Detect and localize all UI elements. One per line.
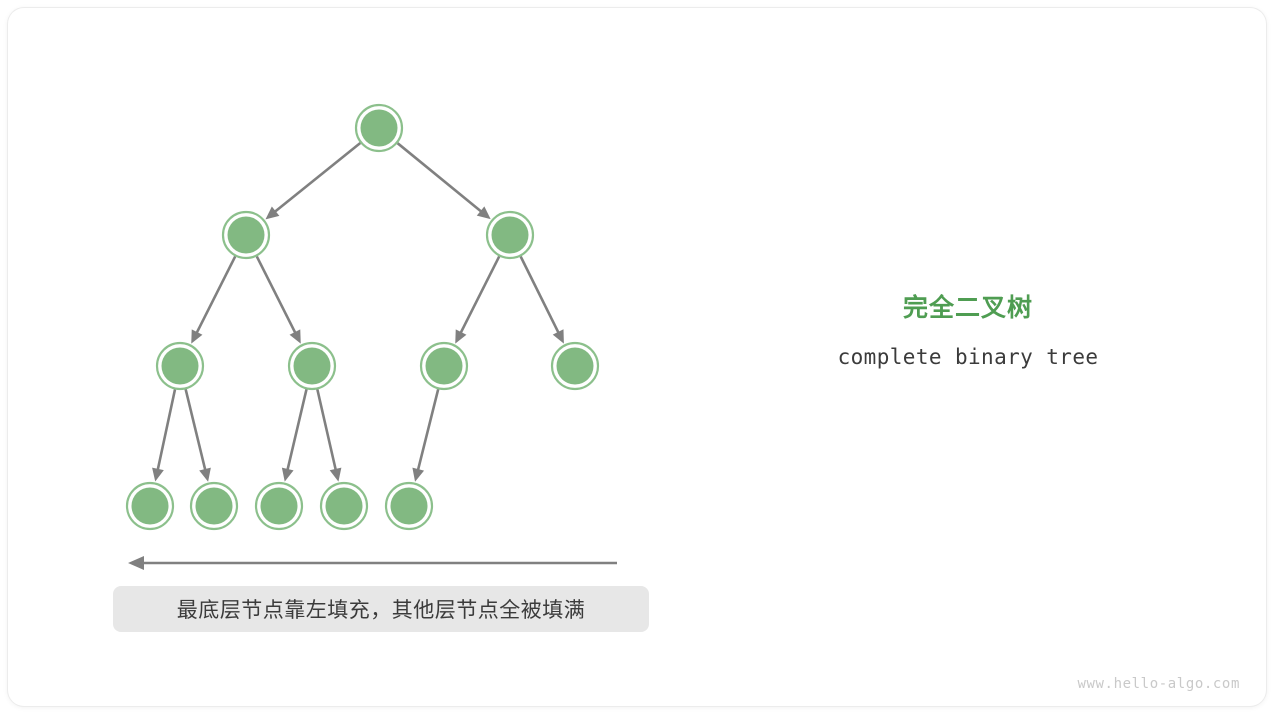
tree-node	[157, 343, 203, 389]
tree-edge-arrowhead	[282, 468, 294, 482]
tree-node-circle	[228, 217, 265, 254]
tree-edge-line	[274, 143, 360, 212]
tree-edge	[186, 389, 211, 481]
tree-node-circle	[162, 348, 199, 385]
tree-edge-arrowhead	[199, 468, 211, 482]
tree-edge-line	[287, 389, 306, 471]
tree-node	[386, 483, 432, 529]
tree-edge	[191, 256, 235, 343]
tree-node	[191, 483, 237, 529]
tree-node-circle	[294, 348, 331, 385]
tree-edge-line	[196, 256, 235, 333]
tree-edges-layer	[152, 143, 564, 482]
tree-edge-line	[398, 143, 482, 212]
tree-edge-line	[158, 389, 175, 470]
tree-node	[223, 212, 269, 258]
watermark-url: www.hello-algo.com	[1077, 676, 1240, 692]
tree-node	[356, 105, 402, 151]
tree-node-circle	[261, 488, 298, 525]
legend-subtitle: complete binary tree	[768, 345, 1168, 369]
tree-edge-line	[317, 389, 336, 470]
tree-edge	[412, 389, 438, 481]
tree-node	[487, 212, 533, 258]
tree-edge-arrowhead	[152, 468, 164, 482]
caption-label: 最底层节点靠左填充，其他层节点全被填满	[177, 594, 586, 624]
tree-edge	[455, 256, 499, 343]
fill-direction-arrow	[128, 556, 617, 570]
tree-node-circle	[557, 348, 594, 385]
tree-edge	[398, 143, 491, 219]
tree-nodes-layer	[127, 105, 598, 529]
tree-node-circle	[426, 348, 463, 385]
legend-block: 完全二叉树 complete binary tree	[768, 292, 1168, 369]
tree-edge	[317, 389, 341, 481]
tree-node	[256, 483, 302, 529]
tree-node	[289, 343, 335, 389]
tree-edge	[257, 256, 301, 343]
tree-edge	[282, 389, 307, 481]
diagram-canvas: 最底层节点靠左填充，其他层节点全被填满 完全二叉树 complete binar…	[0, 0, 1280, 720]
tree-edge-arrowhead	[330, 468, 342, 482]
tree-edge-line	[186, 389, 206, 471]
tree-node	[421, 343, 467, 389]
tree-edge	[521, 256, 564, 343]
tree-edge-line	[460, 256, 499, 333]
tree-node	[127, 483, 173, 529]
tree-edge-line	[418, 389, 438, 471]
tree-edge-arrowhead	[412, 468, 424, 482]
tree-edge	[152, 389, 175, 481]
tree-node-circle	[361, 110, 398, 147]
tree-node-circle	[196, 488, 233, 525]
tree-node	[321, 483, 367, 529]
fill-direction-arrowhead	[128, 556, 144, 570]
fill-direction-arrow-layer	[128, 556, 617, 570]
tree-edge	[265, 143, 360, 219]
tree-node-circle	[132, 488, 169, 525]
legend-title: 完全二叉树	[768, 292, 1168, 325]
tree-node-circle	[391, 488, 428, 525]
tree-edge-line	[521, 256, 559, 333]
tree-node-circle	[326, 488, 363, 525]
caption-badge: 最底层节点靠左填充，其他层节点全被填满	[113, 586, 649, 632]
tree-node	[552, 343, 598, 389]
tree-edge-line	[257, 256, 296, 333]
tree-node-circle	[492, 217, 529, 254]
